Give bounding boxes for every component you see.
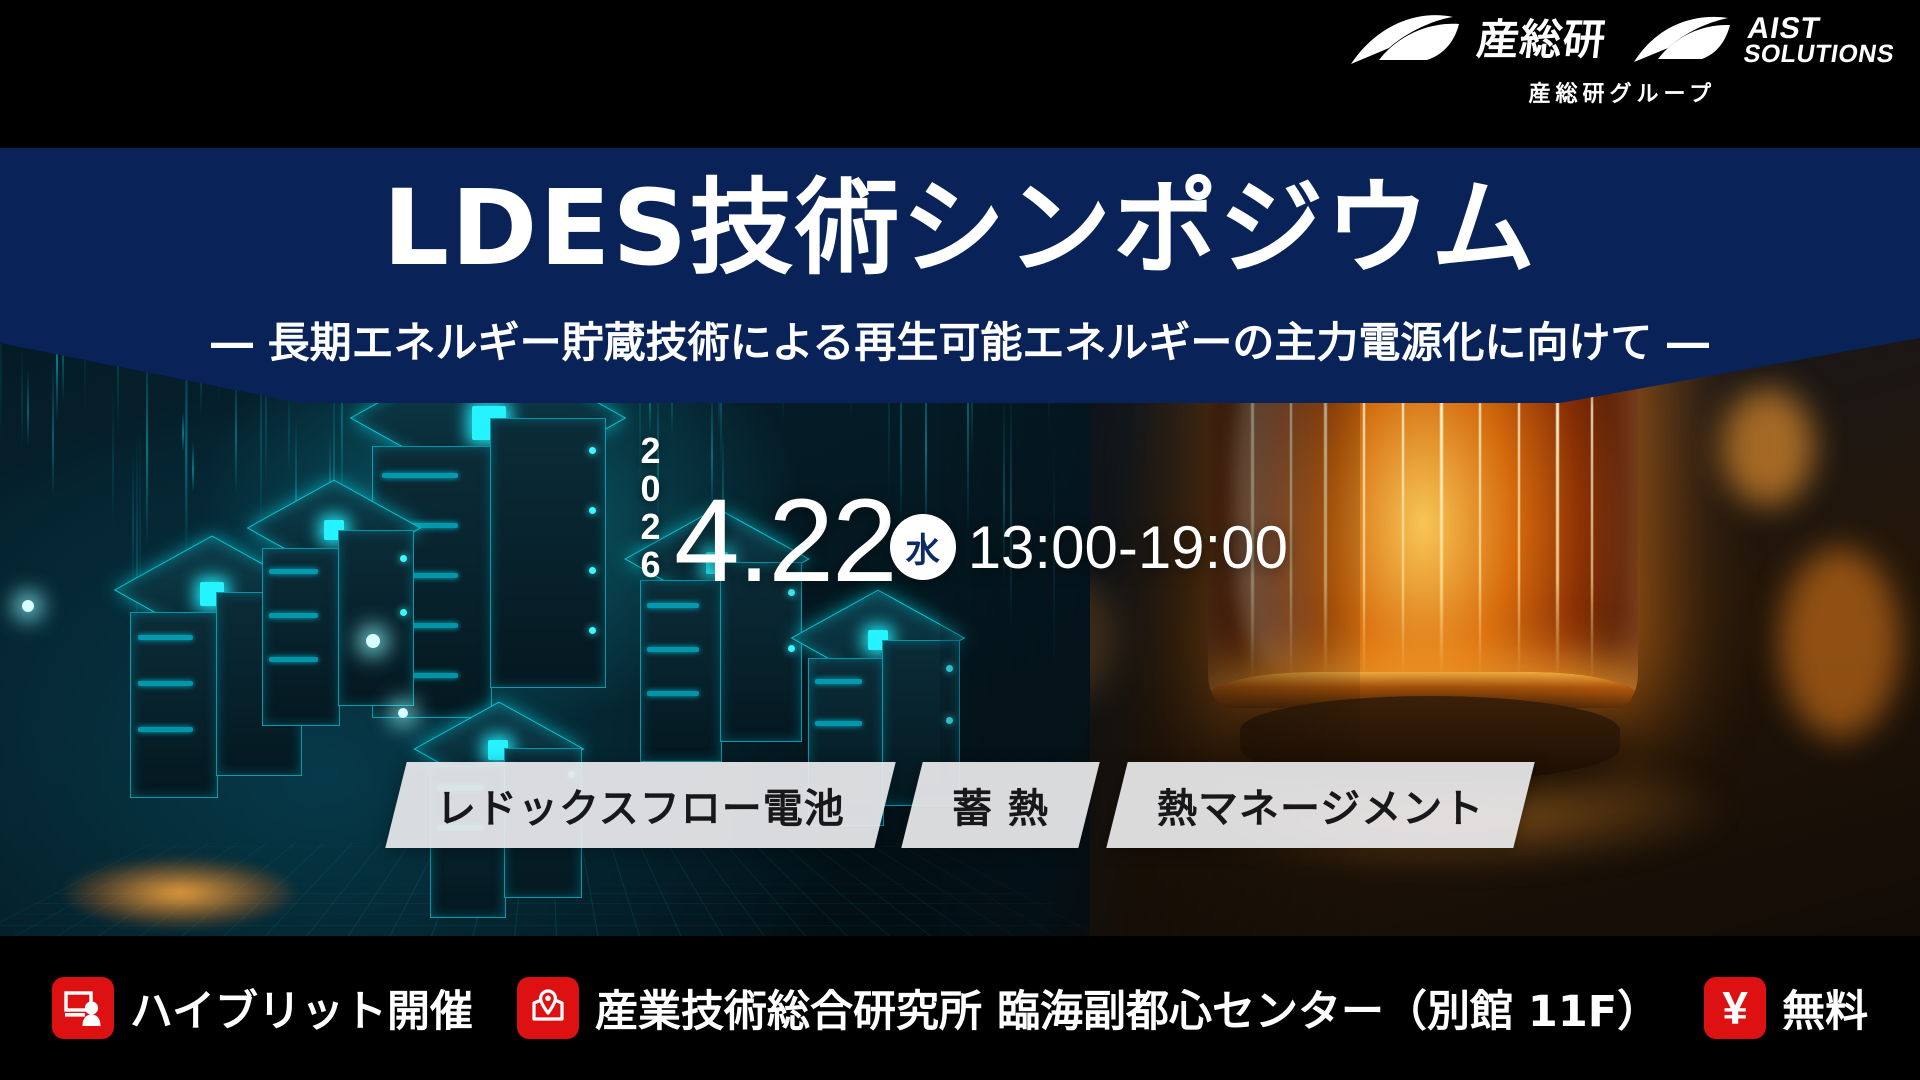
page-title: LDES技術シンポジウム xyxy=(0,176,1920,280)
topic-tag[interactable]: 熱マネージメント xyxy=(1107,762,1536,848)
topic-tag-label: レドックスフロー電池 xyxy=(436,776,845,834)
info-label-format: ハイブリット開催 xyxy=(130,977,473,1039)
event-banner: 産総研 AIST SOLUTIONS 産総研グループ LDES技術シンポジウム … xyxy=(0,0,1920,1080)
yen-symbol: ¥ xyxy=(1722,985,1748,1031)
light-spark xyxy=(366,634,380,648)
aist-swoosh-icon xyxy=(1349,14,1467,66)
logo-row: 産総研 AIST SOLUTIONS xyxy=(1349,14,1896,66)
aist-logo: 産総研 xyxy=(1349,14,1606,66)
event-date-row: 2026 4.22 水 13:00-19:00 xyxy=(0,430,1920,596)
presentation-person-icon xyxy=(52,977,114,1039)
info-label-venue: 産業技術総合研究所 臨海副都心センター（別館 11F） xyxy=(595,977,1660,1039)
info-item-format: ハイブリット開催 xyxy=(52,977,473,1039)
topic-tag-label: 熱マネージメント xyxy=(1157,776,1484,834)
info-item-venue: 産業技術総合研究所 臨海副都心センター（別館 11F） xyxy=(517,977,1660,1039)
light-spark xyxy=(398,708,408,718)
aist-solutions-line1: AIST xyxy=(1745,15,1900,43)
warm-floor-glow xyxy=(65,858,295,928)
light-spark xyxy=(22,600,34,612)
topic-tag-list: レドックスフロー電池 蓄 熱 熱マネージメント xyxy=(0,762,1920,848)
top-logo-bar: 産総研 AIST SOLUTIONS 産総研グループ xyxy=(0,0,1920,148)
topic-tag-label: 蓄 熱 xyxy=(952,776,1049,834)
info-label-fee: 無料 xyxy=(1782,977,1868,1039)
logo-group: 産総研 AIST SOLUTIONS 産総研グループ xyxy=(1349,14,1896,108)
topic-tag[interactable]: レドックスフロー電池 xyxy=(385,762,895,848)
event-year: 2026 xyxy=(632,430,668,582)
aist-solutions-swoosh-icon xyxy=(1632,16,1736,64)
event-time: 13:00-19:00 xyxy=(968,513,1288,582)
topic-tag[interactable]: 蓄 熱 xyxy=(902,762,1100,848)
map-pin-icon xyxy=(517,977,579,1039)
event-weekday-badge: 水 xyxy=(890,514,956,580)
aist-solutions-logo-text: AIST SOLUTIONS xyxy=(1742,15,1900,66)
event-day: 4.22 xyxy=(674,487,896,596)
group-label: 産総研グループ xyxy=(1528,76,1716,108)
event-info-bar: ハイブリット開催 産業技術総合研究所 臨海副都心センター（別館 11F） ¥ 無… xyxy=(0,936,1920,1080)
yen-icon: ¥ xyxy=(1704,977,1766,1039)
aist-logo-text: 産総研 xyxy=(1474,19,1607,61)
aist-solutions-logo: AIST SOLUTIONS xyxy=(1632,15,1896,66)
info-item-fee: ¥ 無料 xyxy=(1704,977,1868,1039)
page-subtitle: ― 長期エネルギー貯蔵技術による再生可能エネルギーの主力電源化に向けて ― xyxy=(0,322,1920,364)
aist-solutions-line2: SOLUTIONS xyxy=(1742,42,1896,65)
